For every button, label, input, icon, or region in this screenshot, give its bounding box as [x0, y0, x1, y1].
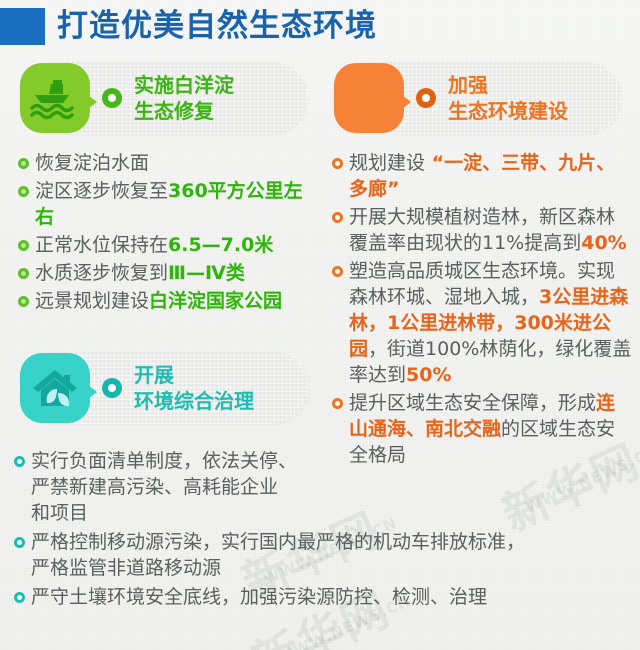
bullet-dot-icon	[14, 592, 25, 603]
section-marker-dot	[102, 378, 122, 398]
plain-text: 严格控制移动源污染，实行国内最严格的机动车排放标准， 严格监管非道路移动源	[31, 531, 525, 579]
list-item: 水质逐步恢复到Ⅲ—Ⅳ类	[18, 260, 318, 286]
list-item-text: 严守土壤环境安全底线，加强污染源防控、检测、治理	[31, 584, 487, 610]
bullet-dot-icon	[332, 266, 343, 277]
list-item-text: 正常水位保持在6.5—7.0米	[35, 232, 273, 258]
list-item-text: 淀区逐步恢复至360平方公里左右	[35, 178, 318, 230]
plain-text: 正常水位保持在	[35, 234, 168, 256]
plain-text: ，街道100%林荫化，绿化覆盖率达到	[349, 338, 631, 386]
section-header-eco-construction: 加强 生态环境建设	[332, 62, 622, 134]
list-item: 开展大规模植树造林，新区森林覆盖率由现状的11%提高到40%	[332, 204, 632, 256]
list-item-text: 恢复淀泊水面	[35, 150, 149, 176]
bullet-dot-icon	[332, 398, 343, 409]
list-item-text: 开展大规模植树造林，新区森林覆盖率由现状的11%提高到40%	[349, 204, 632, 256]
highlighted-text: 6.5—7.0米	[168, 234, 273, 256]
list-item: 严守土壤环境安全底线，加强污染源防控、检测、治理	[14, 584, 629, 610]
highlighted-text: 50%	[406, 364, 451, 386]
list-item: 严格控制移动源污染，实行国内最严格的机动车排放标准， 严格监管非道路移动源	[14, 529, 629, 581]
highlighted-text: 40%	[581, 232, 626, 254]
bullet-list-baiyangdian: 恢复淀泊水面淀区逐步恢复至360平方公里左右正常水位保持在6.5—7.0米水质逐…	[18, 150, 318, 316]
section-header-governance: 开展 环境综合治理	[18, 352, 308, 424]
blank-orange-tile-icon	[334, 63, 404, 133]
list-item-text: 规划建设 “一淀、三带、九片、多廊”	[349, 150, 632, 202]
list-item: 淀区逐步恢复至360平方公里左右	[18, 178, 318, 230]
title-square-marker	[0, 8, 45, 45]
plain-text: 淀区逐步恢复至	[35, 180, 168, 202]
house-with-leaves-icon	[20, 353, 90, 423]
section-marker-dot	[102, 88, 122, 108]
plain-text: 规划建设	[349, 152, 425, 174]
section-marker-dot	[416, 88, 436, 108]
bullet-dot-icon	[18, 240, 29, 251]
plain-text: 严守土壤环境安全底线，加强污染源防控、检测、治理	[31, 586, 487, 608]
list-item-text: 塑造高品质城区生态环境。实现森林环城、湿地入城，3公里进森林，1公里进林带，30…	[349, 258, 632, 388]
plain-text: 水质逐步恢复到	[35, 262, 168, 284]
bullet-list-eco-construction: 规划建设 “一淀、三带、九片、多廊”开展大规模植树造林，新区森林覆盖率由现状的1…	[332, 150, 632, 470]
list-item: 恢复淀泊水面	[18, 150, 318, 176]
plain-text: 开展大规模植树造林，新区森林覆盖率由现状的11%提高到	[349, 206, 615, 254]
bullet-dot-icon	[18, 268, 29, 279]
bullet-dot-icon	[18, 186, 29, 197]
plain-text: 提升区域生态安全保障，形成	[349, 392, 596, 414]
bullet-dot-icon	[14, 537, 25, 548]
motorboat-on-water-icon	[20, 63, 90, 133]
bullet-dot-icon	[18, 296, 29, 307]
page-title: 打造优美自然生态环境	[0, 8, 377, 45]
list-item-text: 严格控制移动源污染，实行国内最严格的机动车排放标准， 严格监管非道路移动源	[31, 529, 525, 581]
highlighted-text: 白洋淀国家公园	[149, 290, 282, 312]
infographic-page: 新华网 WWW.NEWS.CN 新华网 WWW.NEWS.CN 新华网 WWW.…	[0, 0, 640, 650]
bullet-dot-icon	[14, 456, 25, 467]
section-label-eco-construction: 加强 生态环境建设	[448, 72, 568, 124]
plain-text: 实行负面清单制度，依法关停、 严禁新建高污染、高耗能企业 和项目	[31, 450, 297, 524]
section-label-governance: 开展 环境综合治理	[134, 362, 254, 414]
list-item: 塑造高品质城区生态环境。实现森林环城、湿地入城，3公里进森林，1公里进林带，30…	[332, 258, 632, 388]
bullet-dot-icon	[18, 158, 29, 169]
list-item: 实行负面清单制度，依法关停、 严禁新建高污染、高耗能企业 和项目	[14, 448, 629, 526]
list-item-text: 实行负面清单制度，依法关停、 严禁新建高污染、高耗能企业 和项目	[31, 448, 297, 526]
list-item-text: 远景规划建设白洋淀国家公园	[35, 288, 282, 314]
bullet-dot-icon	[332, 158, 343, 169]
list-item: 规划建设 “一淀、三带、九片、多廊”	[332, 150, 632, 202]
list-item: 正常水位保持在6.5—7.0米	[18, 232, 318, 258]
plain-text: 恢复淀泊水面	[35, 152, 149, 174]
bullet-dot-icon	[332, 212, 343, 223]
highlighted-text: Ⅲ—Ⅳ类	[168, 262, 245, 284]
section-header-baiyangdian: 实施白洋淀 生态修复	[18, 62, 308, 134]
plain-text: 远景规划建设	[35, 290, 149, 312]
list-item: 远景规划建设白洋淀国家公园	[18, 288, 318, 314]
bullet-list-governance: 实行负面清单制度，依法关停、 严禁新建高污染、高耗能企业 和项目严格控制移动源污…	[14, 448, 629, 613]
section-label-baiyangdian: 实施白洋淀 生态修复	[134, 72, 234, 124]
page-title-text: 打造优美自然生态环境	[57, 11, 377, 42]
list-item-text: 水质逐步恢复到Ⅲ—Ⅳ类	[35, 260, 245, 286]
